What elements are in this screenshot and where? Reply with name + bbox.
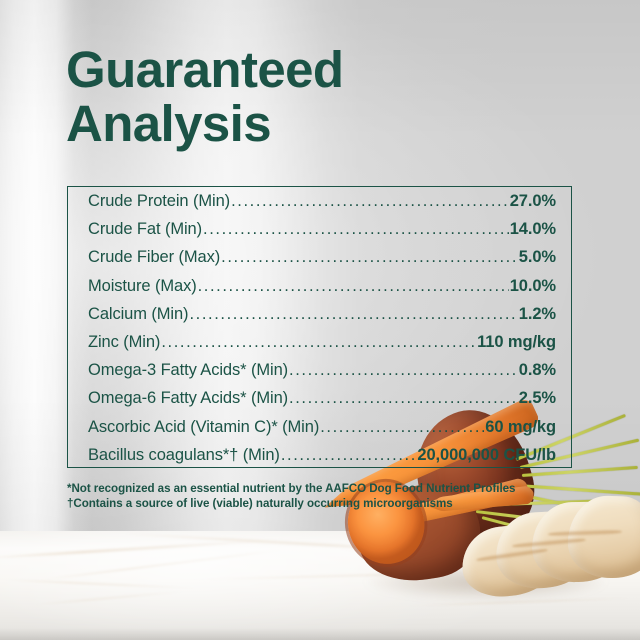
product-label-panel: Guaranteed Analysis Crude Protein (Min).…	[0, 0, 640, 640]
analysis-row: Omega-3 Fatty Acids* (Min)..............…	[88, 361, 556, 389]
analysis-row: Calcium (Min)...........................…	[88, 305, 556, 333]
analysis-row-label: Crude Fat (Min)	[88, 220, 202, 239]
carrot-greens-icon	[518, 484, 640, 496]
analysis-row: Crude Protein (Min).....................…	[88, 192, 556, 220]
page-title: Guaranteed Analysis	[66, 43, 343, 151]
analysis-row-leader-dots: ........................................…	[281, 446, 417, 465]
analysis-row-value: 0.8%	[519, 361, 556, 380]
analysis-row: Zinc (Min)..............................…	[88, 333, 556, 361]
analysis-row-leader-dots: ........................................…	[189, 305, 517, 324]
analysis-row-label: Zinc (Min)	[88, 333, 160, 352]
analysis-row-label: Moisture (Max)	[88, 277, 197, 296]
analysis-row-leader-dots: ........................................…	[198, 277, 509, 296]
analysis-row-label: Omega-3 Fatty Acids* (Min)	[88, 361, 288, 380]
analysis-row-label: Crude Protein (Min)	[88, 192, 230, 211]
analysis-row-leader-dots: ........................................…	[320, 418, 484, 437]
analysis-row: Omega-6 Fatty Acids* (Min)..............…	[88, 389, 556, 417]
analysis-row: Crude Fat (Min).........................…	[88, 220, 556, 248]
analysis-row-label: Calcium (Min)	[88, 305, 188, 324]
analysis-row: Ascorbic Acid (Vitamin C)* (Min)........…	[88, 418, 556, 446]
analysis-row-label: Omega-6 Fatty Acids* (Min)	[88, 389, 288, 408]
analysis-row-value: 14.0%	[510, 220, 556, 239]
analysis-row-value: 1.2%	[519, 305, 556, 324]
analysis-row-value: 10.0%	[510, 277, 556, 296]
analysis-row-leader-dots: ........................................…	[231, 192, 509, 211]
analysis-row-leader-dots: ........................................…	[221, 248, 518, 267]
analysis-row: Moisture (Max)..........................…	[88, 277, 556, 305]
footnote-asterisk: *Not recognized as an essential nutrient…	[67, 481, 515, 496]
analysis-row-label: Bacillus coagulans*† (Min)	[88, 446, 280, 465]
analysis-row: Crude Fiber (Max).......................…	[88, 248, 556, 276]
analysis-row-value: 110 mg/kg	[477, 333, 556, 352]
analysis-row-value: 20,000,000 CFU/lb	[417, 446, 556, 465]
analysis-row-value: 2.5%	[519, 389, 556, 408]
footnotes: *Not recognized as an essential nutrient…	[67, 481, 515, 512]
analysis-row: Bacillus coagulans*† (Min)..............…	[88, 446, 556, 474]
guaranteed-analysis-table: Crude Protein (Min).....................…	[88, 192, 556, 474]
analysis-row-leader-dots: ........................................…	[203, 220, 509, 239]
analysis-row-value: 5.0%	[519, 248, 556, 267]
analysis-row-label: Ascorbic Acid (Vitamin C)* (Min)	[88, 418, 319, 437]
analysis-row-label: Crude Fiber (Max)	[88, 248, 220, 267]
analysis-row-leader-dots: ........................................…	[161, 333, 476, 352]
analysis-row-leader-dots: ........................................…	[289, 361, 518, 380]
analysis-row-value: 60 mg/kg	[485, 418, 556, 437]
analysis-row-value: 27.0%	[510, 192, 556, 211]
footnote-dagger: †Contains a source of live (viable) natu…	[67, 496, 515, 511]
analysis-row-leader-dots: ........................................…	[289, 389, 518, 408]
